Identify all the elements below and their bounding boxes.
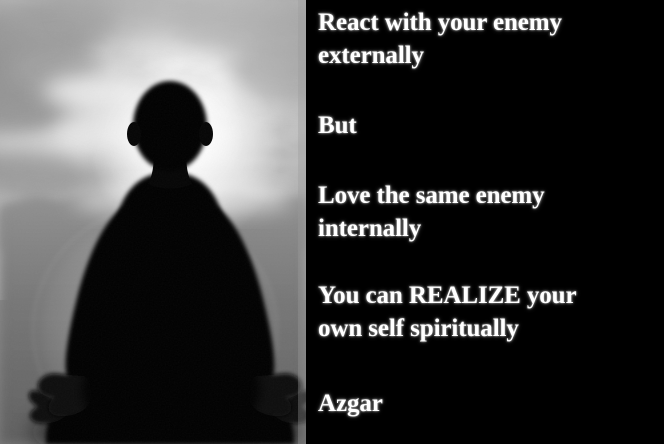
quote-attribution: Azgar xyxy=(318,387,662,420)
photo-right-edge xyxy=(298,0,306,444)
quote-line-1: React with your enemy externally xyxy=(318,6,662,72)
quote-line-4: You can REALIZE your own self spirituall… xyxy=(318,279,662,345)
meditation-quote-poster: React with your enemy externally But Lov… xyxy=(0,0,664,444)
quote-line-3: Love the same enemy internally xyxy=(318,179,662,245)
quote-line-2: But xyxy=(318,109,662,142)
silhouette-scene-graphic xyxy=(0,0,306,444)
quote-text-panel: React with your enemy externally But Lov… xyxy=(306,0,664,444)
meditating-silhouette-photo xyxy=(0,0,306,444)
film-grain xyxy=(0,0,306,444)
